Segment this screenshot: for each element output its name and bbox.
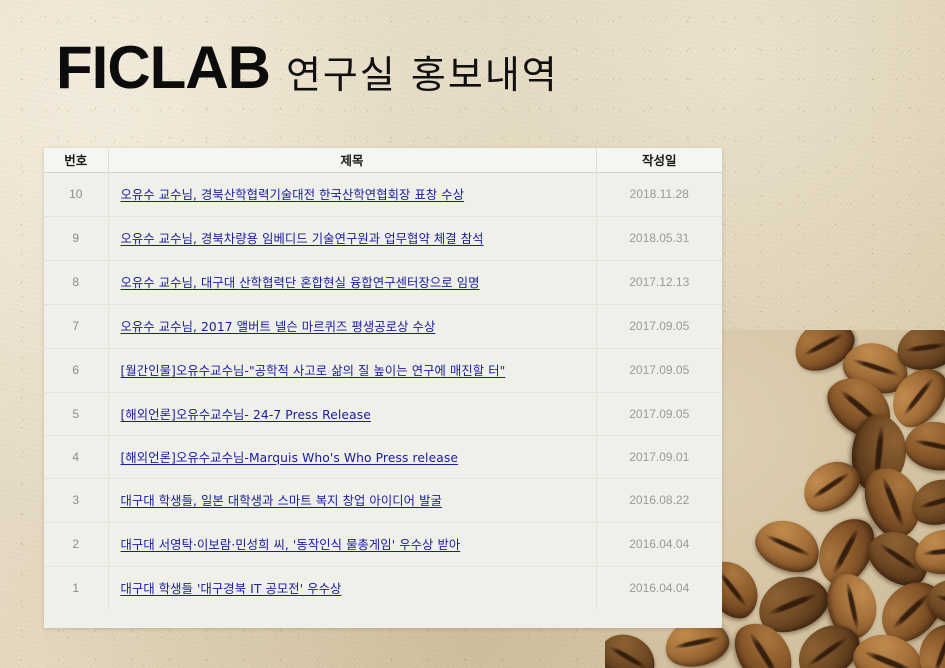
row-date: 2018.11.28 — [596, 172, 722, 216]
notice-title-link[interactable]: 대구대 학생들, 일본 대학생과 스마트 복지 창업 아이디어 발굴 — [121, 494, 442, 508]
row-number: 7 — [44, 304, 108, 348]
table-row[interactable]: 4[해외언론]오유수교수님-Marquis Who's Who Press re… — [44, 435, 722, 478]
notice-title-link[interactable]: [해외언론]오유수교수님-Marquis Who's Who Press rel… — [121, 451, 459, 465]
table-row[interactable]: 9오유수 교수님, 경북차량용 임베디드 기술연구원과 업무협약 체결 참석20… — [44, 216, 722, 260]
page-subtitle: 연구실 홍보내역 — [286, 56, 559, 94]
row-title-cell: 오유수 교수님, 경북차량용 임베디드 기술연구원과 업무협약 체결 참석 — [108, 216, 596, 260]
table-row[interactable]: 1대구대 학생들 '대구경북 IT 공모전' 우수상2016.04.04 — [44, 566, 722, 610]
notice-title-link[interactable]: [해외언론]오유수교수님- 24-7 Press Release — [121, 408, 371, 422]
table-row[interactable]: 3대구대 학생들, 일본 대학생과 스마트 복지 창업 아이디어 발굴2016.… — [44, 478, 722, 522]
row-title-cell: [해외언론]오유수교수님-Marquis Who's Who Press rel… — [108, 435, 596, 478]
column-header-title: 제목 — [108, 148, 596, 172]
notice-board-panel: 번호 제목 작성일 10오유수 교수님, 경북산학협력기술대전 한국산학연협회장… — [44, 148, 722, 628]
table-row[interactable]: 10오유수 교수님, 경북산학협력기술대전 한국산학연협회장 표창 수상2018… — [44, 172, 722, 216]
row-title-cell: 대구대 학생들 '대구경북 IT 공모전' 우수상 — [108, 566, 596, 610]
notice-title-link[interactable]: 오유수 교수님, 경북차량용 임베디드 기술연구원과 업무협약 체결 참석 — [121, 232, 484, 246]
notice-title-link[interactable]: 오유수 교수님, 대구대 산학협력단 혼합현실 융합연구센터장으로 임명 — [121, 276, 480, 290]
row-number: 3 — [44, 478, 108, 522]
row-date: 2016.08.22 — [596, 478, 722, 522]
brand-title: FICLAB — [56, 38, 270, 98]
row-number: 1 — [44, 566, 108, 610]
column-header-no: 번호 — [44, 148, 108, 172]
row-title-cell: [월간인물]오유수교수님-"공학적 사고로 삶의 질 높이는 연구에 매진할 터… — [108, 348, 596, 392]
row-number: 8 — [44, 260, 108, 304]
row-number: 10 — [44, 172, 108, 216]
row-title-cell: 오유수 교수님, 2017 앨버트 넬슨 마르퀴즈 평생공로상 수상 — [108, 304, 596, 348]
row-title-cell: 대구대 학생들, 일본 대학생과 스마트 복지 창업 아이디어 발굴 — [108, 478, 596, 522]
table-body: 10오유수 교수님, 경북산학협력기술대전 한국산학연협회장 표창 수상2018… — [44, 172, 722, 610]
notice-title-link[interactable]: [월간인물]오유수교수님-"공학적 사고로 삶의 질 높이는 연구에 매진할 터… — [121, 364, 506, 378]
row-number: 4 — [44, 435, 108, 478]
table-row[interactable]: 8오유수 교수님, 대구대 산학협력단 혼합현실 융합연구센터장으로 임명201… — [44, 260, 722, 304]
table-row[interactable]: 2대구대 서영탁·이보람·민성희 씨, '동작인식 물총게임' 우수상 받아20… — [44, 522, 722, 566]
row-date: 2016.04.04 — [596, 566, 722, 610]
table-row[interactable]: 7오유수 교수님, 2017 앨버트 넬슨 마르퀴즈 평생공로상 수상2017.… — [44, 304, 722, 348]
row-date: 2017.09.01 — [596, 435, 722, 478]
row-date: 2017.12.13 — [596, 260, 722, 304]
row-date: 2017.09.05 — [596, 304, 722, 348]
row-date: 2016.04.04 — [596, 522, 722, 566]
row-date: 2017.09.05 — [596, 392, 722, 435]
row-date: 2018.05.31 — [596, 216, 722, 260]
table-row[interactable]: 6[월간인물]오유수교수님-"공학적 사고로 삶의 질 높이는 연구에 매진할 … — [44, 348, 722, 392]
row-title-cell: 오유수 교수님, 경북산학협력기술대전 한국산학연협회장 표창 수상 — [108, 172, 596, 216]
row-number: 6 — [44, 348, 108, 392]
column-header-date: 작성일 — [596, 148, 722, 172]
table-header-row: 번호 제목 작성일 — [44, 148, 722, 172]
row-date: 2017.09.05 — [596, 348, 722, 392]
row-title-cell: 대구대 서영탁·이보람·민성희 씨, '동작인식 물총게임' 우수상 받아 — [108, 522, 596, 566]
page-title: FICLAB 연구실 홍보내역 — [56, 38, 559, 98]
row-number: 2 — [44, 522, 108, 566]
notice-title-link[interactable]: 대구대 학생들 '대구경북 IT 공모전' 우수상 — [121, 582, 342, 596]
row-title-cell: 오유수 교수님, 대구대 산학협력단 혼합현실 융합연구센터장으로 임명 — [108, 260, 596, 304]
slide-canvas: FICLAB 연구실 홍보내역 번호 제목 작성일 10오유수 교수님, 경북산… — [0, 0, 945, 668]
notice-title-link[interactable]: 대구대 서영탁·이보람·민성희 씨, '동작인식 물총게임' 우수상 받아 — [121, 538, 461, 552]
row-number: 9 — [44, 216, 108, 260]
table-row[interactable]: 5[해외언론]오유수교수님- 24-7 Press Release2017.09… — [44, 392, 722, 435]
row-title-cell: [해외언론]오유수교수님- 24-7 Press Release — [108, 392, 596, 435]
notice-table: 번호 제목 작성일 10오유수 교수님, 경북산학협력기술대전 한국산학연협회장… — [44, 148, 722, 610]
row-number: 5 — [44, 392, 108, 435]
notice-title-link[interactable]: 오유수 교수님, 2017 앨버트 넬슨 마르퀴즈 평생공로상 수상 — [121, 320, 436, 334]
notice-title-link[interactable]: 오유수 교수님, 경북산학협력기술대전 한국산학연협회장 표창 수상 — [121, 188, 465, 202]
table-header: 번호 제목 작성일 — [44, 148, 722, 172]
